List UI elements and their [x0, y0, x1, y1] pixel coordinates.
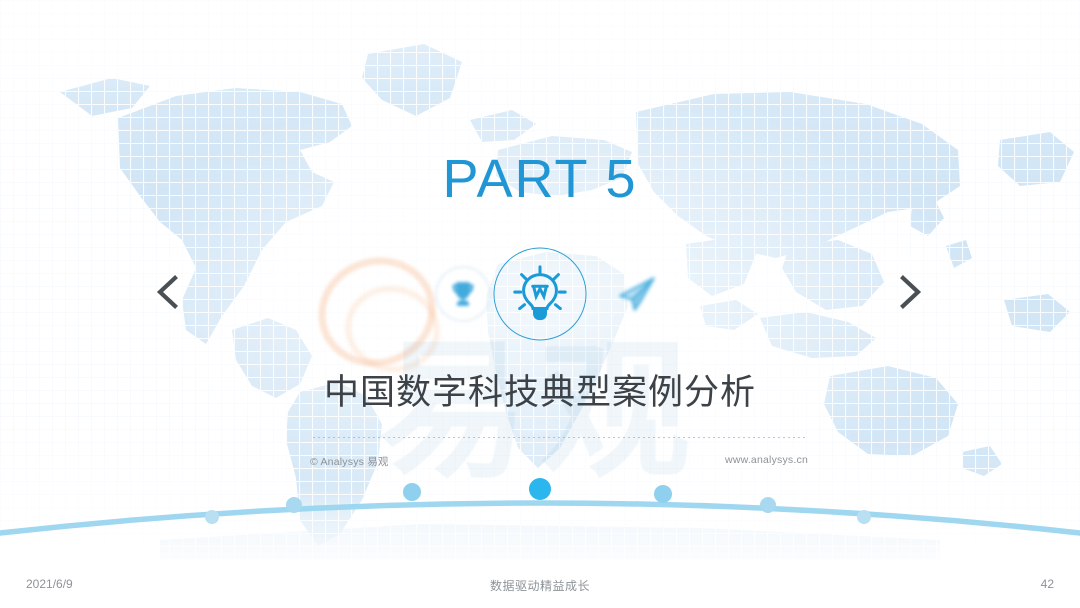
footer-tagline: 数据驱动精益成长 — [0, 577, 1080, 594]
chevron-left-icon — [153, 272, 183, 312]
presentation-slide: 易观 PART 5 — [0, 0, 1080, 608]
previous-slide-arrow[interactable] — [144, 268, 192, 316]
progress-dot[interactable] — [760, 497, 776, 513]
dotted-divider — [313, 437, 805, 439]
paper-plane-icon[interactable] — [589, 246, 685, 342]
progress-dot[interactable] — [205, 510, 219, 524]
progress-dot[interactable] — [857, 510, 871, 524]
progress-dot[interactable] — [403, 483, 421, 501]
footer-page-number: 42 — [1041, 577, 1054, 591]
next-slide-arrow[interactable] — [886, 268, 934, 316]
progress-curve — [0, 503, 1080, 533]
progress-dot-active[interactable] — [529, 478, 551, 500]
progress-arc — [0, 455, 1080, 560]
part-title: PART 5 — [0, 152, 1080, 206]
chevron-right-icon — [895, 272, 925, 312]
slide-footer: 2021/6/9 数据驱动精益成长 42 — [0, 565, 1080, 608]
slide-subtitle: 中国数字科技典型案例分析 — [0, 372, 1080, 414]
website-url: www.analysys.cn — [725, 454, 808, 466]
progress-dot-group — [205, 478, 871, 524]
lightbulb-icon[interactable] — [490, 244, 590, 344]
copyright-credit: © Analysys 易观 — [310, 454, 389, 469]
progress-dot[interactable] — [286, 497, 302, 513]
progress-dot[interactable] — [654, 485, 672, 503]
